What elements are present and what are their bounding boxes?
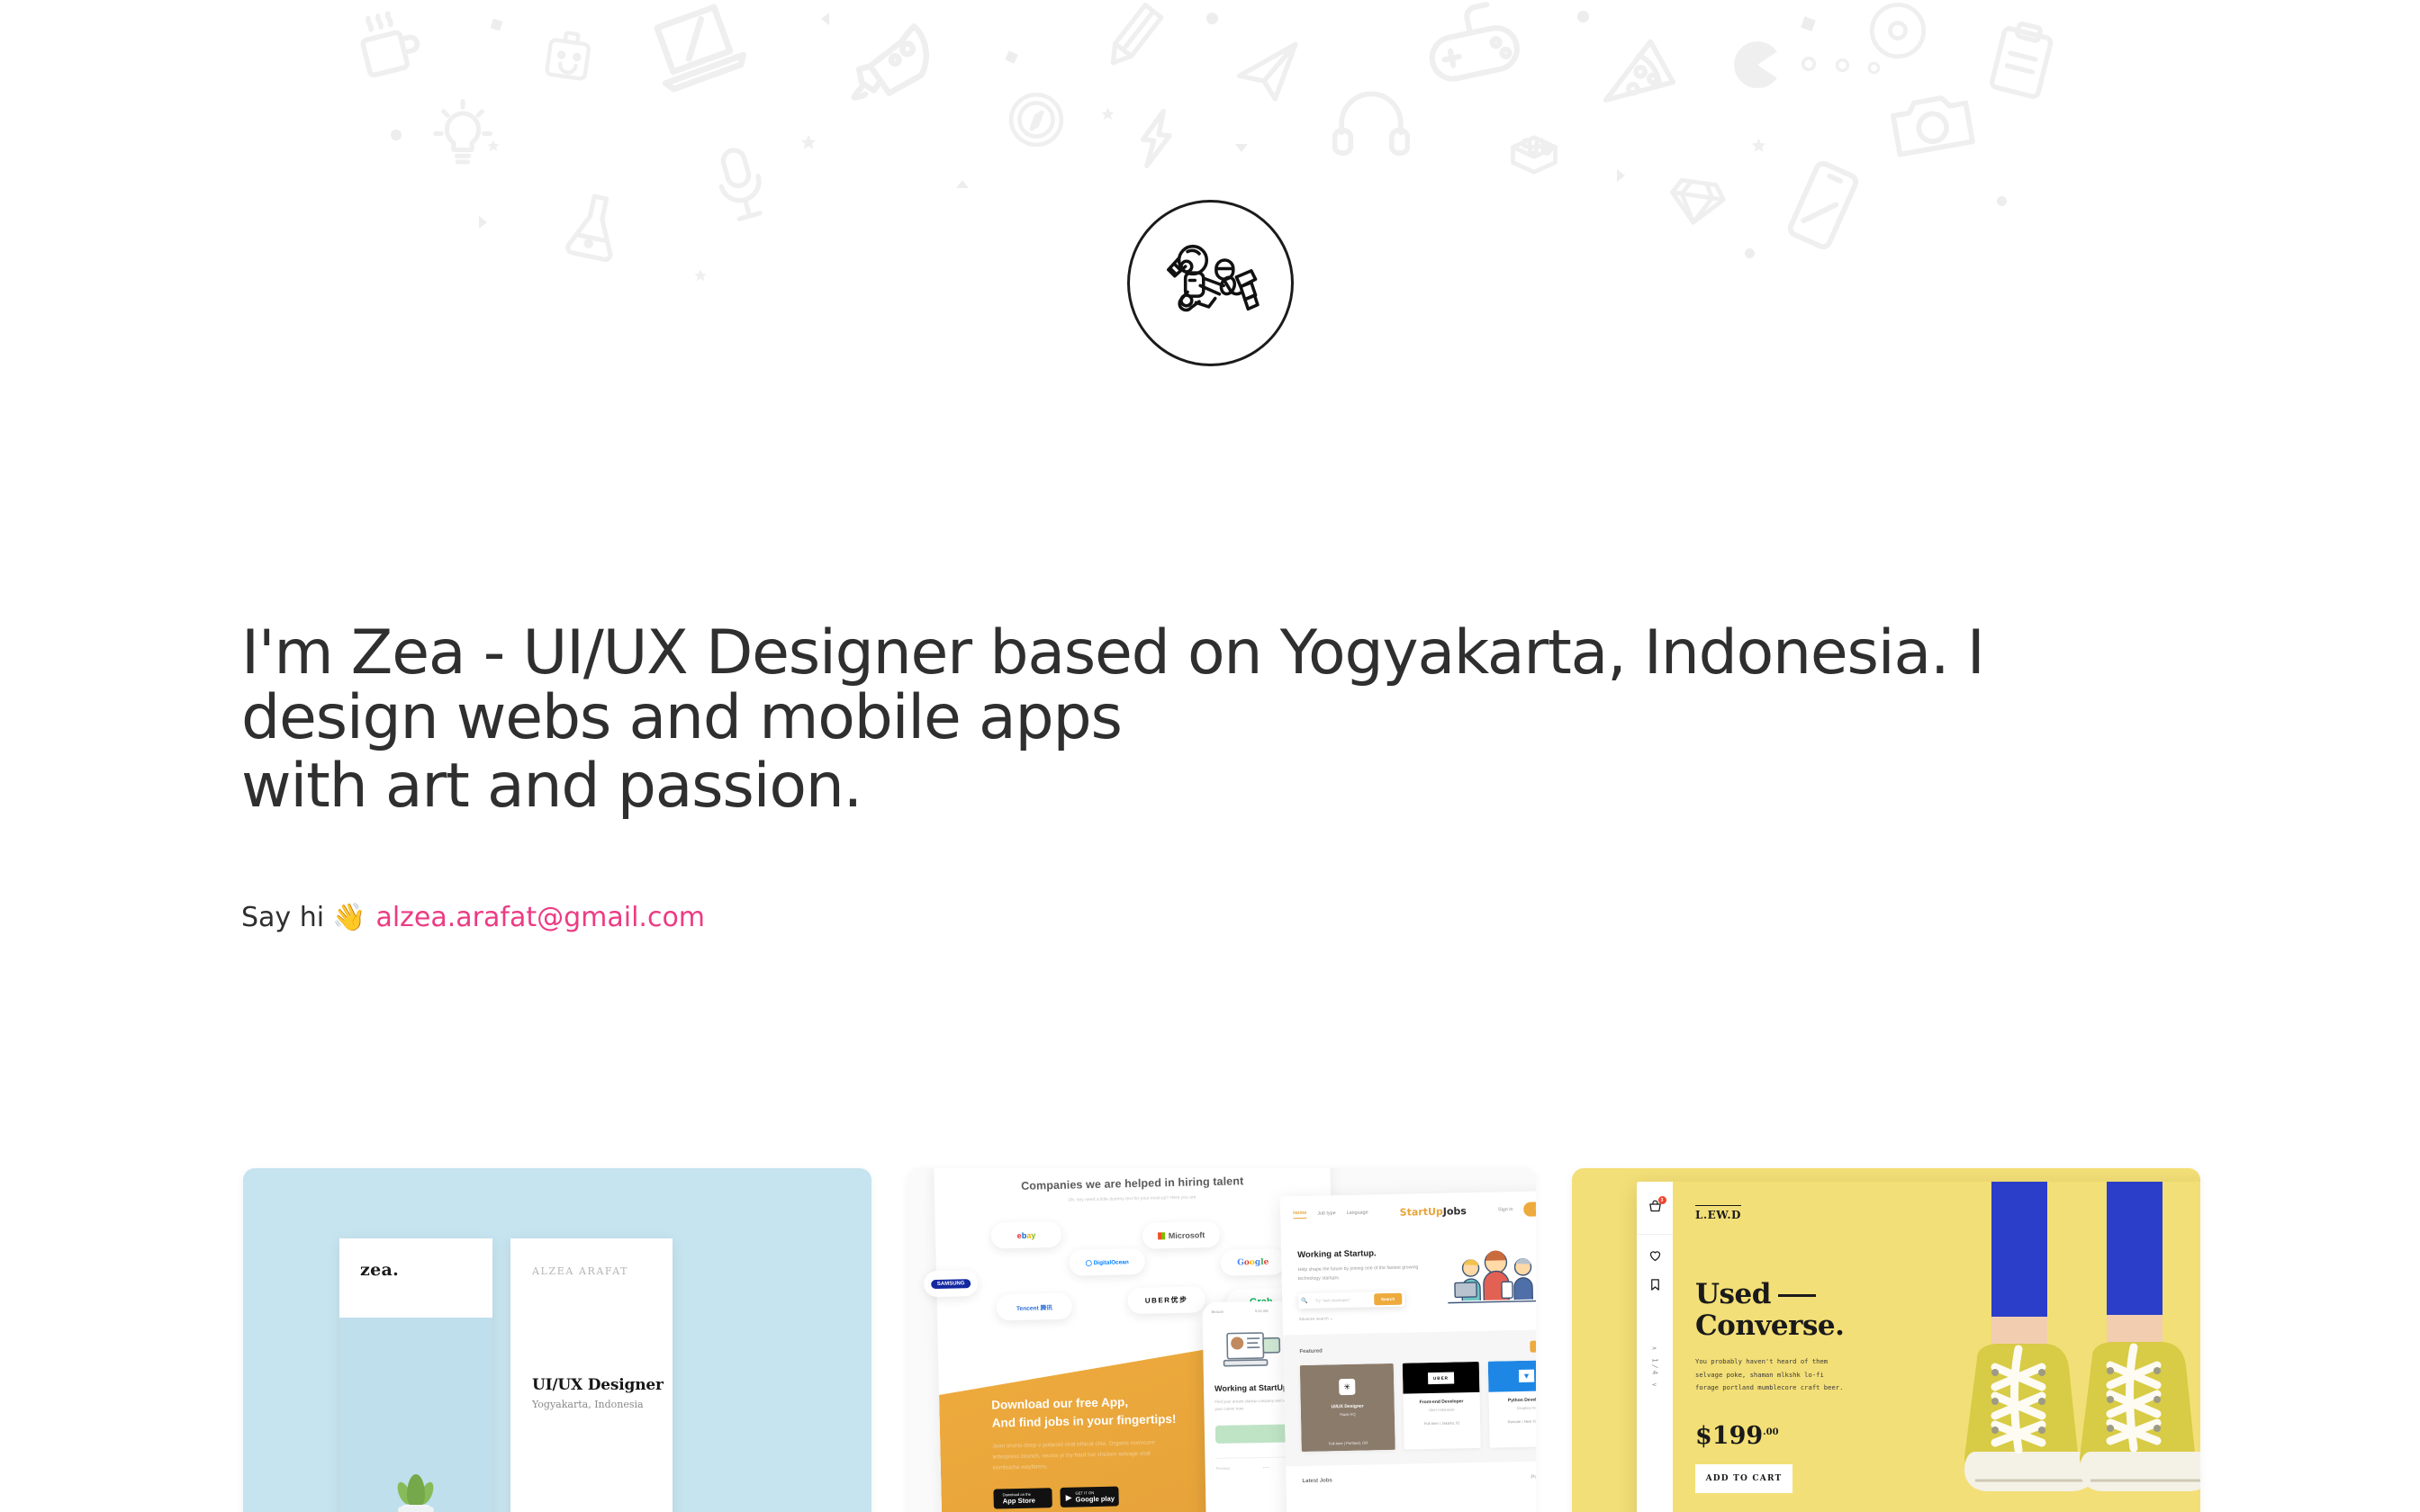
paper-plane-icon — [1232, 39, 1308, 109]
dot-icon — [1577, 11, 1589, 22]
plant-photo — [339, 1318, 492, 1512]
astronaut-logo-icon — [1127, 200, 1294, 366]
lightning-icon — [1133, 104, 1177, 173]
dot-icon — [1745, 248, 1755, 258]
plant-illustration — [395, 1469, 437, 1512]
business-card-location: Yogyakarta, Indonesia — [532, 1399, 673, 1410]
store-window-mockup: 3 ∧ 1/4 — [1637, 1182, 2200, 1512]
diamond-icon — [1664, 169, 1729, 234]
rocket-icon — [844, 5, 953, 115]
business-card-title: UI/UX Designer — [532, 1376, 673, 1394]
job-card[interactable]: UBER Front-end Developer Uber Indonesia … — [1403, 1362, 1481, 1450]
product-description: You probably haven't heard of them selva… — [1695, 1355, 1850, 1394]
nav-home[interactable]: Home — [1293, 1210, 1306, 1218]
hero-section: I'm Zea - UI/UX Designer based on Yogyak… — [241, 621, 2132, 933]
divider — [1637, 1234, 1673, 1235]
project-grid: zea. ALZEA ARAFAT UI/UX Designer Yogyaka… — [243, 1168, 2200, 1512]
laptop-icon — [634, 0, 758, 106]
square-icon — [1801, 16, 1816, 31]
nav-language[interactable]: Language — [1347, 1210, 1368, 1216]
lightbulb-icon — [430, 94, 495, 181]
headline-line-2: design webs and mobile apps — [241, 682, 1122, 753]
project-card-lewd-store[interactable]: 3 ∧ 1/4 — [1572, 1168, 2200, 1512]
landing-subheading: Oh, hey need a little dummy text for you… — [935, 1192, 1331, 1206]
compass-icon — [1007, 90, 1066, 149]
job-thumbnail: UBER — [1403, 1362, 1480, 1394]
leaf-icon — [407, 1474, 425, 1508]
waving-hand-icon: 👋 — [332, 904, 366, 931]
search-placeholder: Try "web developer" — [1315, 1298, 1374, 1303]
logo-pill-samsung: SAMSUNG — [924, 1270, 979, 1297]
square-icon — [491, 19, 503, 31]
microphone-icon — [701, 138, 781, 234]
business-card-name: ALZEA ARAFAT — [532, 1265, 673, 1277]
heart-icon[interactable] — [1648, 1249, 1662, 1267]
triangle-icon — [479, 216, 487, 229]
cart-icon[interactable]: 3 — [1648, 1200, 1662, 1218]
job-card-row: ✳ UI/UX Designer Slack HQ Full-time | Po… — [1300, 1360, 1536, 1452]
cart-badge: 3 — [1658, 1196, 1666, 1204]
contact-line: Say hi 👋 alzea.arafat@gmail.com — [241, 902, 2132, 933]
lego-brick-icon — [1505, 126, 1563, 184]
store-hero: L.EW.D Used Converse. You probably haven… — [1673, 1182, 2200, 1512]
project-card-branding[interactable]: zea. ALZEA ARAFAT UI/UX Designer Yogyaka… — [243, 1168, 871, 1512]
featured-label: Featured — [1299, 1348, 1322, 1354]
page-title: I'm Zea - UI/UX Designer based on Yogyak… — [241, 621, 2042, 819]
headline-line-3: with art and passion. — [241, 754, 2042, 819]
star-icon — [693, 268, 708, 283]
dot-icon — [1206, 13, 1218, 24]
dot-icon — [1997, 196, 2007, 206]
site-brand: StartUpJobs — [1400, 1205, 1467, 1219]
dot-icon — [1801, 56, 1817, 72]
nav-job-type[interactable]: Job type — [1317, 1210, 1336, 1216]
featured-section: Featured See More ✳ UI/UX Designer Slack… — [1283, 1329, 1536, 1467]
carousel-pagination[interactable]: ∧ 1/4 ∨ — [1651, 1346, 1659, 1389]
email-link[interactable]: alzea.arafat@gmail.com — [375, 902, 705, 933]
team-illustration — [1445, 1245, 1536, 1307]
logo-pill-ebay: ebay — [991, 1221, 1062, 1249]
site-logo[interactable] — [1127, 200, 1294, 366]
coffee-mug-icon — [345, 0, 433, 92]
star-icon — [799, 133, 817, 151]
star-icon — [486, 139, 501, 153]
startupjobs-site-mockup: Home Job type Language StartUpJobs Sign … — [1280, 1191, 1536, 1512]
sign-in-link[interactable]: Sign in — [1498, 1207, 1513, 1212]
add-to-cart-button[interactable]: ADD TO CART — [1695, 1464, 1792, 1493]
triangle-icon — [956, 180, 969, 188]
site-hero: Working at Startup. Help shape the futur… — [1281, 1227, 1536, 1336]
site-hero-title: Working at Startup. — [1297, 1247, 1420, 1260]
flask-icon — [558, 185, 629, 268]
store-brand: L.EW.D — [1695, 1205, 1741, 1221]
pacman-icon — [1732, 40, 1783, 90]
site-hero-body: Help shape the future by joining one of … — [1297, 1263, 1420, 1283]
clipboard-icon — [1983, 15, 2061, 103]
lego-head-icon — [537, 25, 600, 90]
site-navbar: Home Job type Language StartUpJobs Sign … — [1280, 1191, 1536, 1233]
brand-card-back: ALZEA ARAFAT UI/UX Designer Yogyakarta, … — [510, 1238, 673, 1512]
triangle-icon — [1235, 144, 1248, 152]
store-sidebar: 3 ∧ 1/4 — [1637, 1182, 1673, 1512]
headline-line-1: I'm Zea - UI/UX Designer based on Yogyak… — [241, 617, 1984, 688]
vinyl-icon — [1867, 0, 1928, 61]
dot-icon — [391, 130, 402, 140]
square-icon — [1005, 50, 1018, 64]
job-search-bar[interactable]: 🔍 Try "web developer" Search — [1298, 1291, 1404, 1309]
popular-jobs-filter[interactable]: Popular jobs ⌄ — [1531, 1473, 1536, 1480]
job-card[interactable]: ✳ UI/UX Designer Slack HQ Full-time | Po… — [1300, 1363, 1395, 1452]
dot-icon — [1867, 61, 1881, 75]
triangle-icon — [821, 13, 829, 25]
say-hi-label: Say hi — [241, 902, 324, 933]
advance-search-toggle[interactable]: Advance search ⌄ — [1299, 1315, 1422, 1323]
job-thumbnail: ✳ UI/UX Designer Slack HQ Full-time | Po… — [1300, 1363, 1395, 1452]
headphones-icon — [1332, 86, 1410, 158]
camera-icon — [1885, 84, 1979, 166]
pot-shape — [402, 1505, 430, 1512]
latest-jobs-header: Latest Jobs Popular jobs ⌄ — [1286, 1461, 1536, 1498]
dot-icon — [1835, 58, 1850, 73]
google-play-badge[interactable]: ▶ GET IT ONGoogle play — [1060, 1486, 1118, 1507]
star-icon — [1100, 106, 1115, 121]
logo-pill-microsoft: Microsoft — [1142, 1221, 1221, 1249]
dot-icon — [1577, 11, 1589, 22]
pencil-icon — [1081, 0, 1185, 90]
triangle-icon — [1617, 169, 1625, 182]
project-card-startupjobs[interactable]: Companies we are helped in hiring talent… — [907, 1168, 1536, 1512]
brand-card-front: zea. — [339, 1238, 492, 1512]
pizza-icon — [1600, 31, 1684, 121]
logo-pill-google: Google — [1220, 1248, 1286, 1276]
app-store-badge[interactable]: Download on theApp Store — [993, 1488, 1052, 1508]
latest-jobs-label: Latest Jobs — [1302, 1479, 1332, 1486]
star-icon — [1750, 137, 1767, 154]
landing-heading: Companies we are helped in hiring talent — [935, 1173, 1331, 1194]
featured-header: Featured See More — [1299, 1340, 1536, 1357]
search-button[interactable]: Search — [1374, 1293, 1403, 1306]
see-more-button[interactable]: See More — [1530, 1340, 1536, 1353]
sign-up-button[interactable]: Sign up — [1523, 1201, 1536, 1217]
portfolio-page: I'm Zea - UI/UX Designer based on Yogyak… — [0, 0, 2420, 1512]
bookmark-icon[interactable] — [1649, 1278, 1661, 1296]
smartphone-icon — [1778, 154, 1867, 257]
zea-wordmark: zea. — [360, 1260, 492, 1280]
logo-pill-uber: UBER优步 — [1127, 1286, 1205, 1314]
converse-shoes-photo — [1883, 1182, 2200, 1512]
logo-pill-digitalocean: ◯ DigitalOcean — [1069, 1248, 1145, 1276]
gamepad-icon — [1417, 0, 1528, 92]
logo-pill-tencent: Tencent 腾讯 — [996, 1293, 1072, 1321]
title-dash — [1778, 1294, 1816, 1297]
job-thumbnail: ▼ — [1488, 1360, 1536, 1392]
cta-body: Jean shorts deep v polaroid viral ethica… — [992, 1437, 1164, 1474]
job-card[interactable]: ▼ Python Developer Dropbox Inc Remote | … — [1488, 1360, 1536, 1448]
